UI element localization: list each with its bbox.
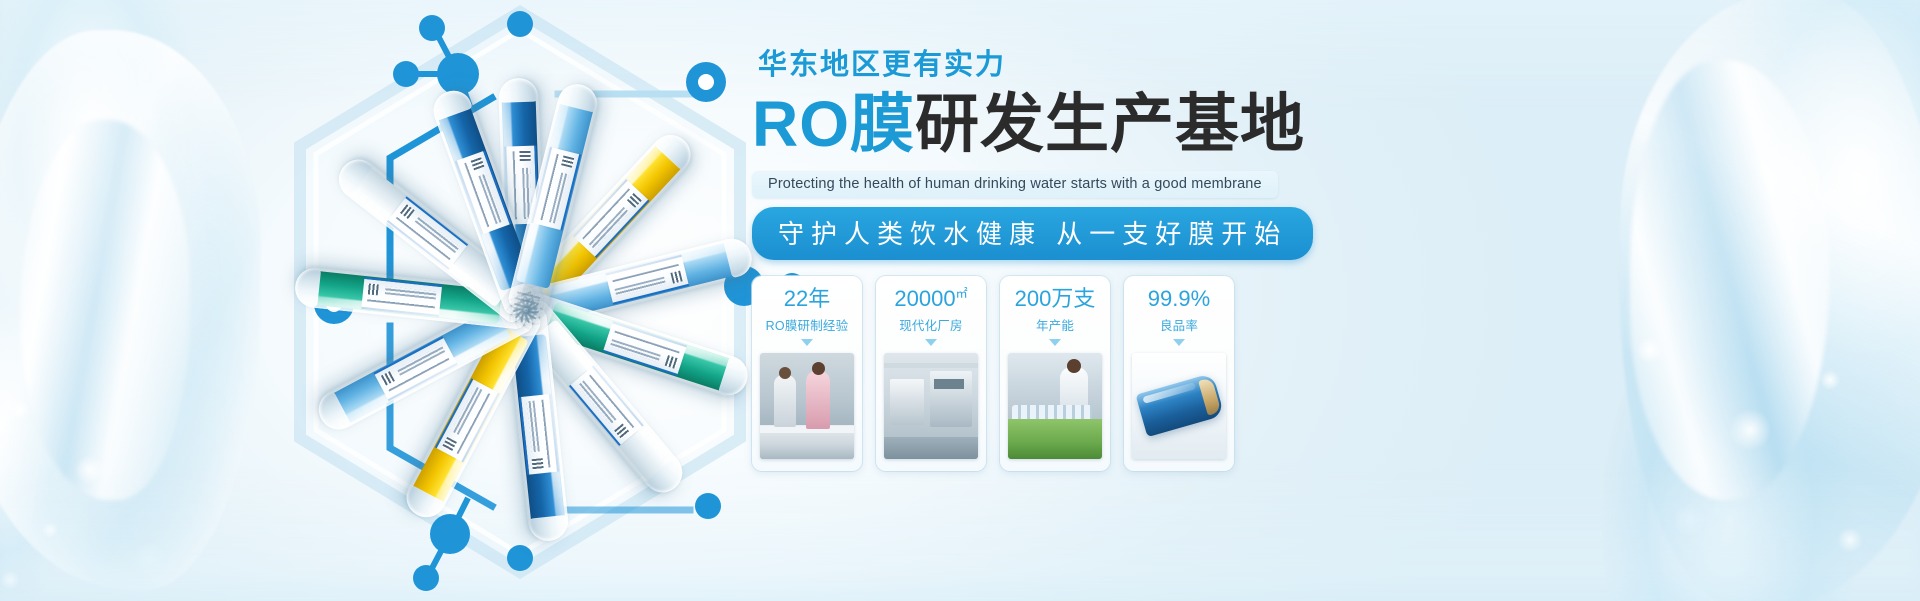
chinese-tagline: 守护人类饮水健康 从一支好膜开始 — [752, 207, 1313, 260]
headline-blue-part: RO膜 — [752, 88, 915, 160]
worker-packing-photo — [1008, 353, 1102, 459]
water-streak-left — [20, 120, 190, 500]
triangle-icon — [1173, 339, 1185, 346]
hero-banner: 华东地区更有实力 RO膜研发生产基地 Protecting the health… — [0, 0, 1920, 601]
stat-value: 20000㎡ — [894, 287, 967, 311]
stat-label: 良品率 — [1160, 315, 1198, 334]
stat-card[interactable]: 22年 RO膜研制经验 — [752, 276, 862, 471]
stat-label: 现代化厂房 — [899, 315, 963, 334]
banner-eyebrow: 华东地区更有实力 — [758, 50, 1852, 82]
triangle-icon — [925, 339, 937, 346]
triangle-icon — [801, 339, 813, 346]
membrane-element-photo — [1132, 353, 1226, 459]
stat-card-row: 22年 RO膜研制经验 20000㎡ 现代化厂房 200万支 年产能 — [752, 276, 1852, 471]
stat-label: RO膜研制经验 — [766, 315, 849, 334]
stat-value: 200万支 — [1015, 287, 1096, 311]
english-tagline: Protecting the health of human drinking … — [752, 171, 1278, 198]
product-fan — [226, 0, 826, 601]
stat-card[interactable]: 20000㎡ 现代化厂房 — [876, 276, 986, 471]
triangle-icon — [1049, 339, 1061, 346]
factory-machines-photo — [884, 353, 978, 459]
headline-dark-part: 研发生产基地 — [915, 88, 1305, 160]
stat-value: 22年 — [784, 287, 830, 311]
lab-technicians-photo — [760, 353, 854, 459]
stat-card[interactable]: 99.9% 良品率 — [1124, 276, 1234, 471]
banner-headline: RO膜研发生产基地 — [752, 90, 1852, 159]
banner-content: 华东地区更有实力 RO膜研发生产基地 Protecting the health… — [752, 50, 1852, 471]
stat-card[interactable]: 200万支 年产能 — [1000, 276, 1110, 471]
stat-label: 年产能 — [1036, 315, 1074, 334]
stat-value: 99.9% — [1148, 287, 1210, 311]
water-foam-left — [0, 350, 240, 601]
water-wave-left — [0, 30, 260, 590]
